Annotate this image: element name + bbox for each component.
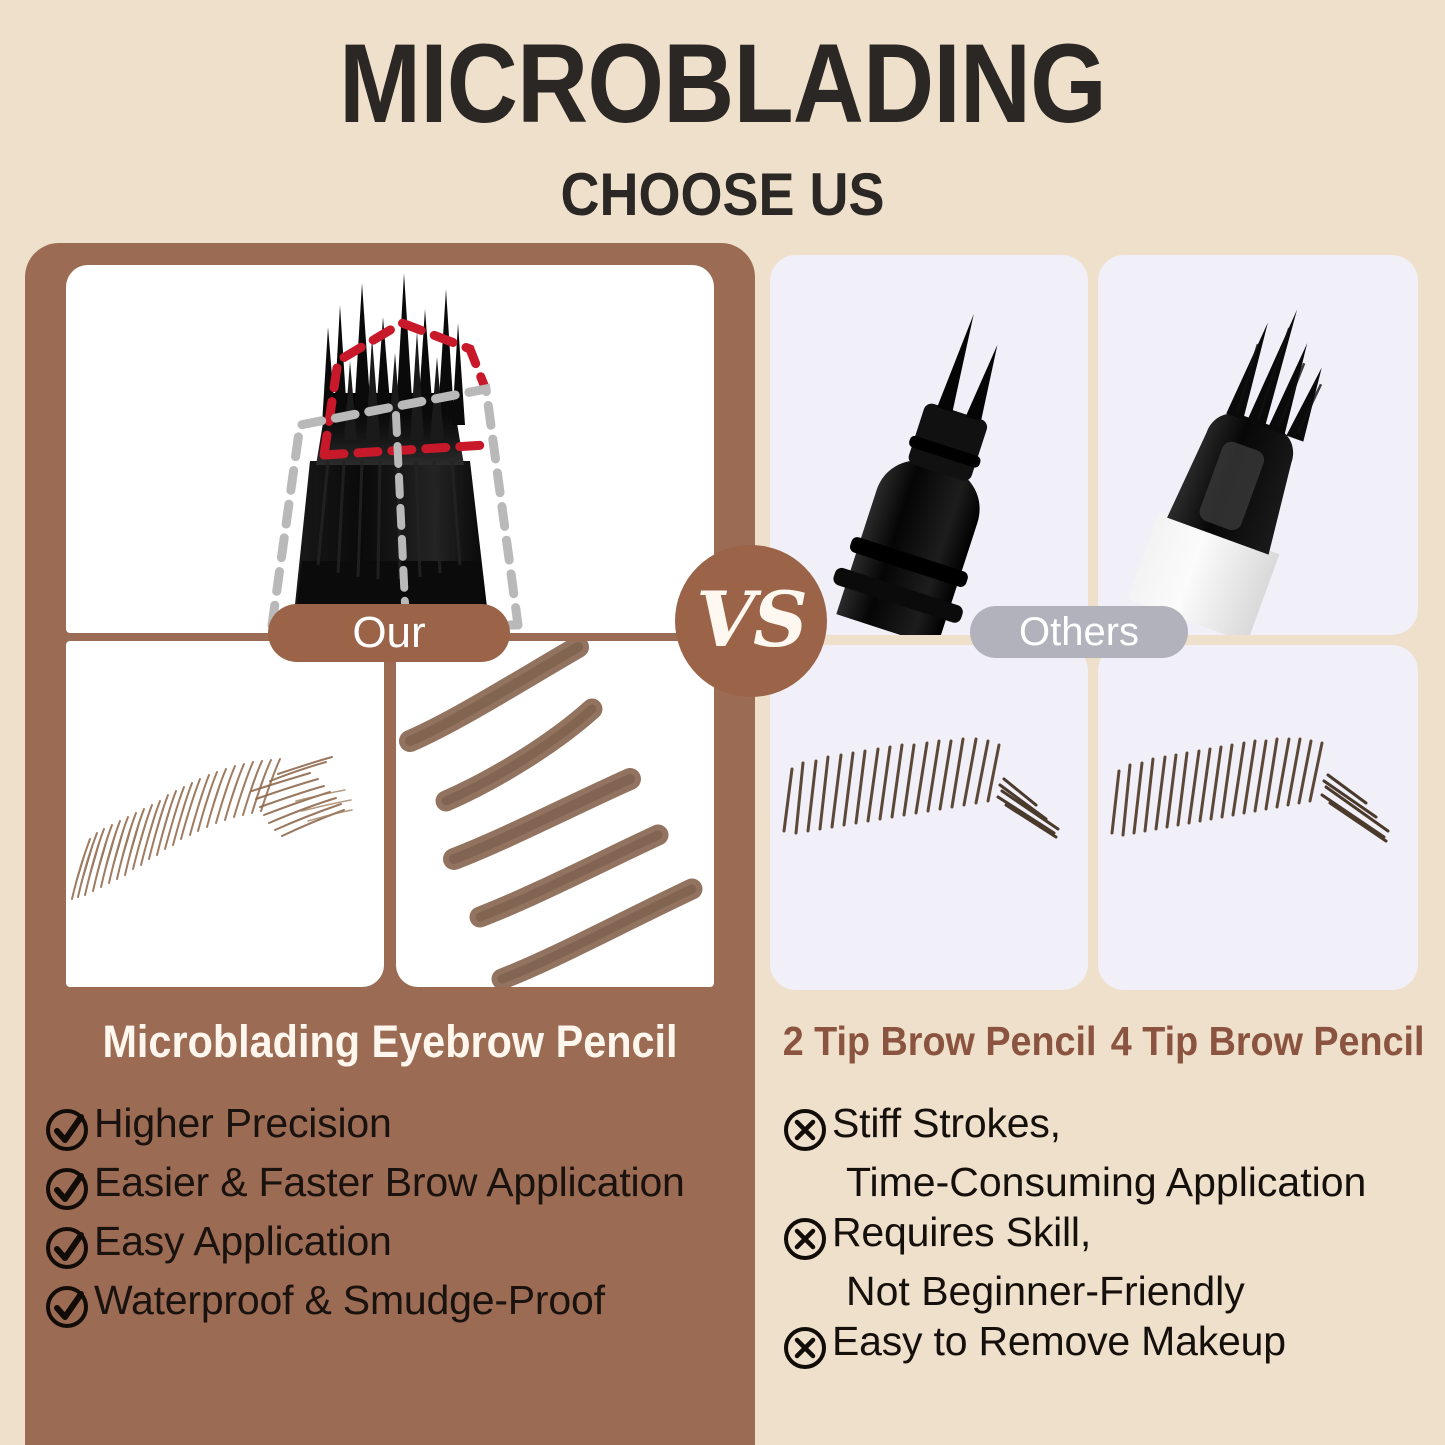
- list-item: Stiff Strokes,: [782, 1103, 1432, 1153]
- check-circle-icon: [44, 1166, 90, 1212]
- drawbacks-list: Stiff Strokes, Time-Consuming Applicatio…: [782, 1103, 1432, 1380]
- list-item-label: Waterproof & Smudge-Proof: [90, 1280, 605, 1321]
- brow-result-photo: [66, 641, 384, 987]
- page-title: MICROBLADING: [87, 28, 1359, 140]
- list-item-label: Easy Application: [90, 1221, 392, 1262]
- list-item-label: Requires Skill,: [828, 1212, 1091, 1253]
- vs-label: VS: [696, 575, 806, 664]
- check-circle-icon: [44, 1107, 90, 1153]
- list-item-subline: Time-Consuming Application: [782, 1162, 1432, 1203]
- list-item: Higher Precision: [44, 1103, 750, 1153]
- microblading-tip-photo: [66, 265, 714, 633]
- x-circle-icon: [782, 1107, 828, 1153]
- list-item-label: Stiff Strokes,: [828, 1103, 1061, 1144]
- benefits-list: Higher Precision Easier & Faster Brow Ap…: [44, 1103, 750, 1339]
- x-circle-icon: [782, 1325, 828, 1371]
- infographic-canvas: MICROBLADING CHOOSE US: [0, 0, 1445, 1445]
- competitor-2tip-photo: [770, 255, 1088, 635]
- list-item-subline: Not Beginner-Friendly: [782, 1271, 1432, 1312]
- page-subtitle: CHOOSE US: [72, 160, 1373, 229]
- competitor-4tip-photo: [1098, 255, 1418, 635]
- list-item-label: Higher Precision: [90, 1103, 392, 1144]
- competitor-2tip-result-photo: [770, 645, 1088, 990]
- competitor-4tip-result-photo: [1098, 645, 1418, 990]
- our-label-pill: Our: [268, 604, 510, 662]
- check-circle-icon: [44, 1284, 90, 1330]
- list-item-label: Easy to Remove Makeup: [828, 1321, 1286, 1362]
- list-item: Easy to Remove Makeup: [782, 1321, 1432, 1371]
- list-item-label: Easier & Faster Brow Application: [90, 1162, 685, 1203]
- color-swatch-photo: [396, 641, 714, 987]
- x-circle-icon: [782, 1216, 828, 1262]
- list-item: Easy Application: [44, 1221, 750, 1271]
- others-label-pill: Others: [970, 606, 1188, 658]
- competitor-caption-4tip: 4 Tip Brow Pencil: [1111, 1018, 1405, 1065]
- list-item: Requires Skill,: [782, 1212, 1432, 1262]
- list-item: Easier & Faster Brow Application: [44, 1162, 750, 1212]
- competitor-caption-2tip: 2 Tip Brow Pencil: [783, 1018, 1076, 1065]
- check-circle-icon: [44, 1225, 90, 1271]
- our-product-caption: Microblading Eyebrow Pencil: [54, 1016, 726, 1068]
- list-item: Waterproof & Smudge-Proof: [44, 1280, 750, 1330]
- vs-badge: VS: [675, 545, 827, 697]
